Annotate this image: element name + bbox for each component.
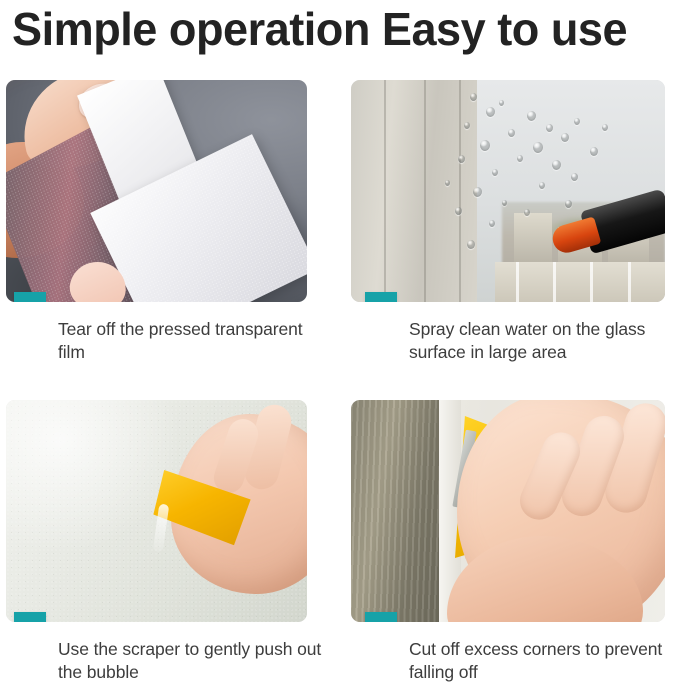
step-photo-1: 1 [6, 80, 307, 302]
page-title: Simple operation Easy to use [12, 0, 659, 60]
step-card-4: 4 Cut off excess corners to prevent fall… [351, 400, 671, 622]
step-caption-1: Tear off the pressed transparent film [58, 318, 326, 363]
window-frame [351, 400, 439, 622]
water-droplets [351, 80, 665, 302]
steps-grid: 1 Tear off the pressed transparent film [0, 80, 679, 698]
step-number-badge-4: 4 [365, 612, 397, 622]
step-caption-2: Spray clean water on the glass surface i… [409, 318, 679, 363]
step-card-1: 1 Tear off the pressed transparent film [6, 80, 326, 302]
step-caption-4: Cut off excess corners to prevent fallin… [409, 638, 679, 683]
step-number-badge-1: 1 [14, 292, 46, 302]
step-photo-2: 2 [351, 80, 665, 302]
step-photo-4: 4 [351, 400, 665, 622]
step-card-3: 3 Use the scraper to gently push out the… [6, 400, 326, 622]
step-caption-3: Use the scraper to gently push out the b… [58, 638, 326, 683]
step-photo-3: 3 [6, 400, 307, 622]
step-card-2: 2 Spray clean water on the glass surface… [351, 80, 671, 302]
step-number-badge-2: 2 [365, 292, 397, 302]
step-number-badge-3: 3 [14, 612, 46, 622]
